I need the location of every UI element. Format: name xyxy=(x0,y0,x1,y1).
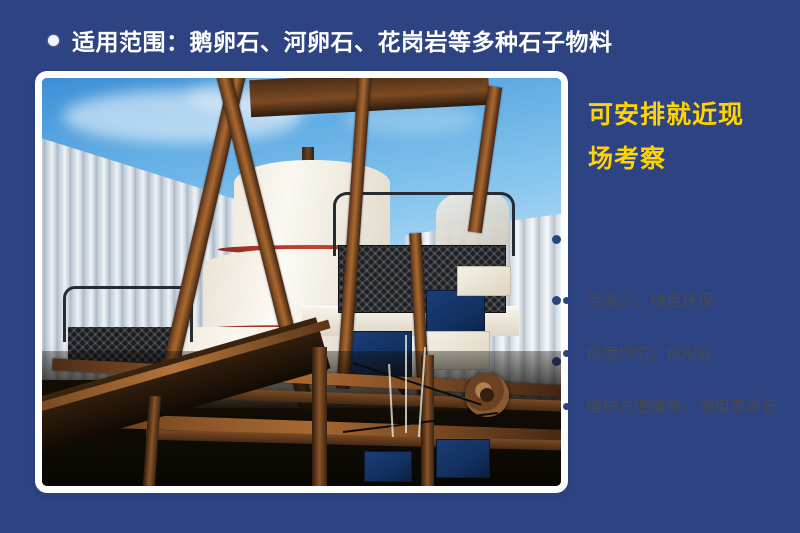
page-title: 适用范围：鹅卵石、河卵石、花岗岩等多种石子物料 xyxy=(72,23,613,57)
machine-photo xyxy=(42,78,561,486)
bullet-dot-icon xyxy=(563,403,570,410)
motor-pulley xyxy=(465,373,509,417)
photo-card xyxy=(35,71,568,493)
promo-banner: 适用范围：鹅卵石、河卵石、花岗岩等多种石子物料 xyxy=(0,0,800,533)
promo-headline: 可安排就近现 场考察 xyxy=(588,93,788,181)
wall-stud xyxy=(552,296,561,305)
bullet-dot-icon xyxy=(48,35,59,46)
list-item: 维护方便简单，使用寿命长 xyxy=(563,394,795,421)
blue-machine-housing xyxy=(436,439,490,478)
header: 适用范围：鹅卵石、河卵石、花岗岩等多种石子物料 xyxy=(48,20,613,60)
feature-list: 污染少、绿色环保 粒度均匀，粒形好 维护方便简单，使用寿命长 xyxy=(563,288,795,447)
support-post xyxy=(312,347,327,486)
list-item: 粒度均匀，粒形好 xyxy=(563,341,795,368)
bullet-dot-icon xyxy=(563,350,570,357)
list-item: 污染少、绿色环保 xyxy=(563,288,795,315)
feature-label: 污染少、绿色环保 xyxy=(586,288,714,315)
wall-stud xyxy=(552,235,561,244)
feature-label: 粒度均匀，粒形好 xyxy=(586,341,714,368)
bullet-dot-icon xyxy=(563,297,570,304)
promo-headline-line2: 场考察 xyxy=(588,137,788,181)
wire xyxy=(405,335,407,433)
white-machine-housing xyxy=(457,266,511,297)
promo-headline-line1: 可安排就近现 xyxy=(588,93,788,137)
blue-machine-housing xyxy=(364,451,413,482)
feature-label: 维护方便简单，使用寿命长 xyxy=(586,394,778,421)
